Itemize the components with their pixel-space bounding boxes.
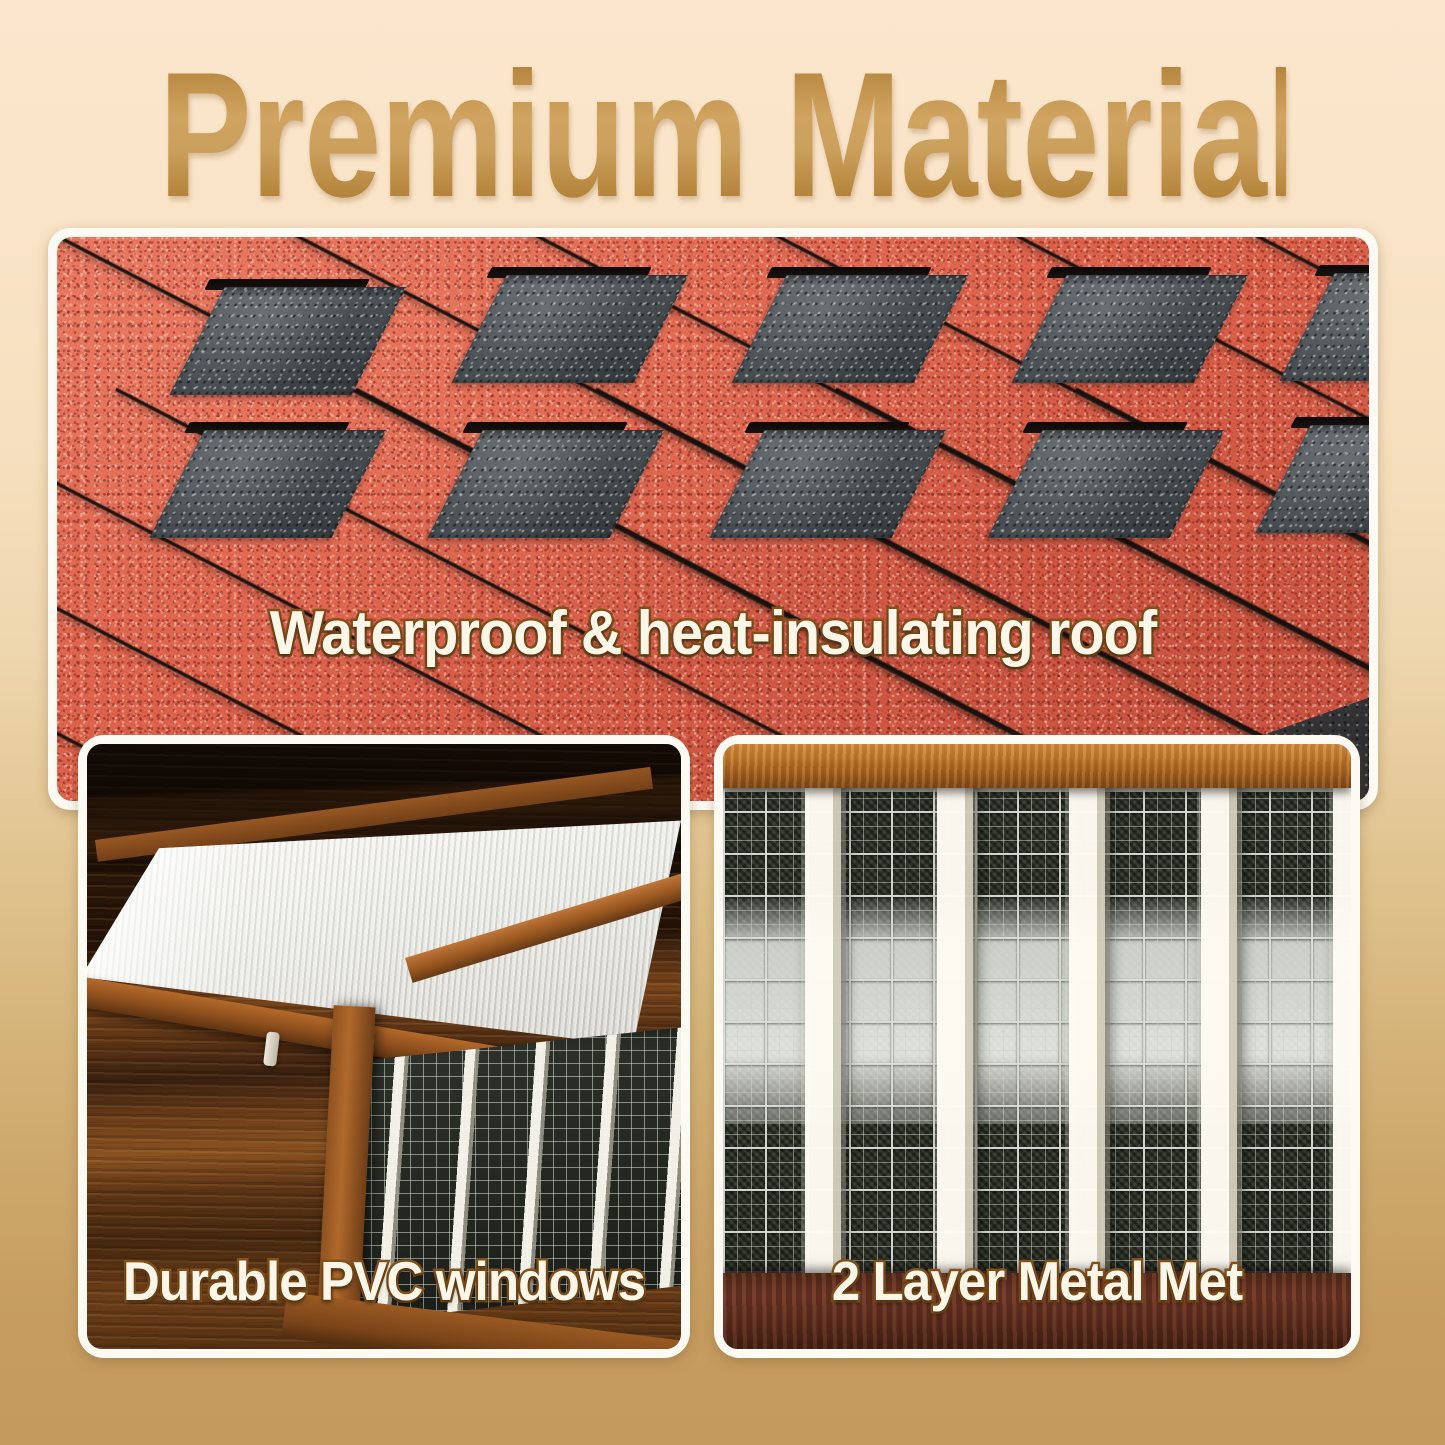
caption-pvc-windows: Durable PVC windows xyxy=(108,1249,660,1313)
pvc-window-photo: Durable PVC windows xyxy=(87,744,681,1349)
panel-roof[interactable]: Waterproof & heat-insulating roof xyxy=(48,228,1378,810)
roof-photo: Waterproof & heat-insulating roof xyxy=(57,237,1369,801)
premium-material-poster: Premium Material xyxy=(0,0,1445,1445)
caption-roof: Waterproof & heat-insulating roof xyxy=(103,598,1323,669)
caption-metal-mesh: 2 Layer Metal Met xyxy=(745,1249,1329,1313)
panel-metal-mesh[interactable]: 2 Layer Metal Met xyxy=(714,735,1360,1358)
page-title: Premium Material xyxy=(159,46,1286,224)
mesh-vertical-bars xyxy=(723,784,1351,1279)
mesh-top-wooden-rail xyxy=(723,744,1351,788)
metal-mesh-photo: 2 Layer Metal Met xyxy=(723,744,1351,1349)
panel-pvc-windows[interactable]: Durable PVC windows xyxy=(78,735,690,1358)
